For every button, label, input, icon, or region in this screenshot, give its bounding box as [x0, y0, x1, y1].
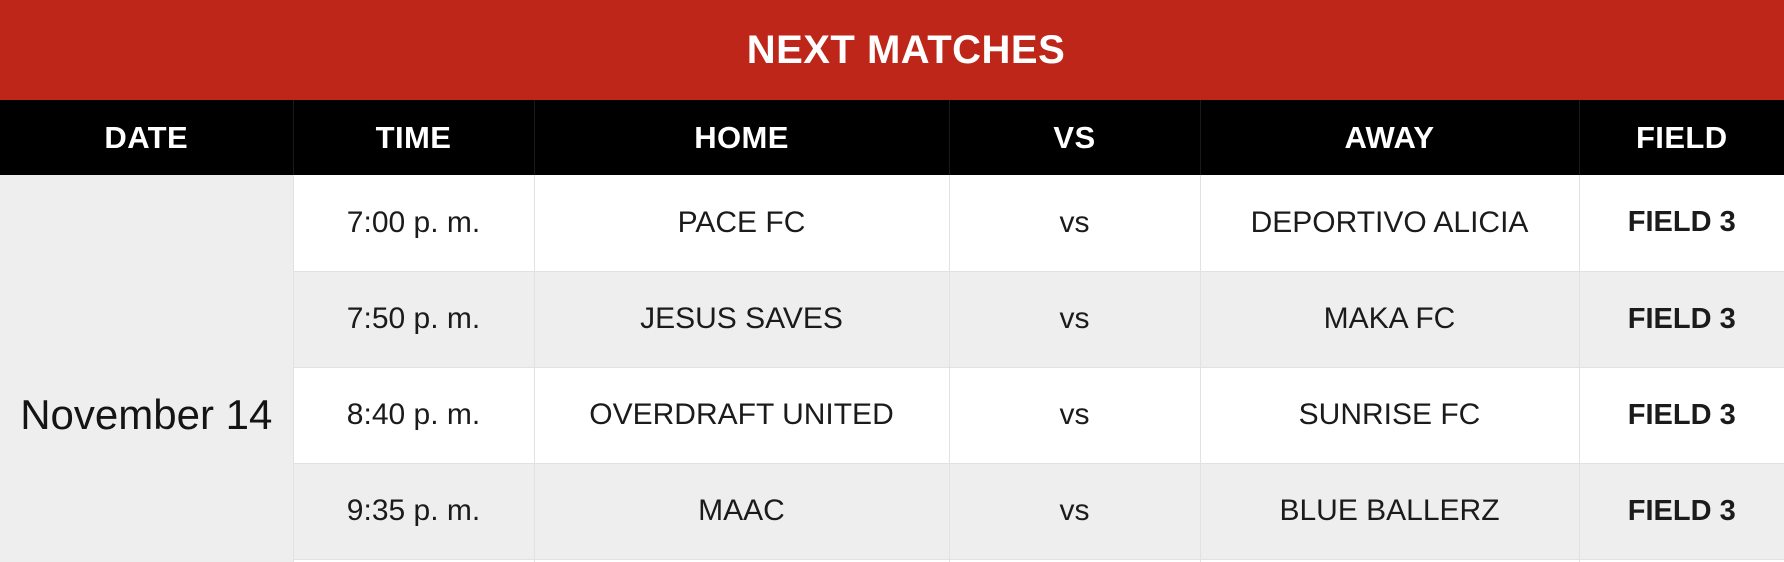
cell-away: BLUE BALLERZ	[1200, 463, 1579, 559]
cell-home: JESUS SAVES	[534, 271, 949, 367]
banner: NEXT MATCHES	[0, 0, 1784, 100]
cell-time: 7:00 p. m.	[293, 175, 534, 271]
date-group-cell: November 14	[0, 175, 293, 562]
column-header-field[interactable]: FIELD	[1579, 100, 1784, 175]
cell-vs: vs	[949, 463, 1200, 559]
table-body: November 14 7:00 p. m. PACE FC vs DEPORT…	[0, 175, 1784, 562]
cell-away: DEPORTIVO ALICIA	[1200, 175, 1579, 271]
table-header: DATE TIME HOME VS AWAY FIELD	[0, 100, 1784, 175]
column-header-vs[interactable]: VS	[949, 100, 1200, 175]
next-matches-board: NEXT MATCHES DATE TIME HOME VS AWAY FIEL…	[0, 0, 1784, 562]
cell-home: MAAC	[534, 463, 949, 559]
cell-field: FIELD 3	[1579, 463, 1784, 559]
cell-time: 7:50 p. m.	[293, 271, 534, 367]
cell-home: PACE FC	[534, 175, 949, 271]
cell-home: OVERDRAFT UNITED	[534, 367, 949, 463]
cell-time: 8:40 p. m.	[293, 367, 534, 463]
page-title: NEXT MATCHES	[747, 30, 1066, 70]
cell-field: FIELD 3	[1579, 271, 1784, 367]
column-header-away[interactable]: AWAY	[1200, 100, 1579, 175]
column-header-home[interactable]: HOME	[534, 100, 949, 175]
cell-vs: vs	[949, 271, 1200, 367]
column-header-time[interactable]: TIME	[293, 100, 534, 175]
matches-table: DATE TIME HOME VS AWAY FIELD November 14…	[0, 100, 1784, 562]
cell-away: MAKA FC	[1200, 271, 1579, 367]
cell-field: FIELD 3	[1579, 175, 1784, 271]
cell-away: SUNRISE FC	[1200, 367, 1579, 463]
column-header-date[interactable]: DATE	[0, 100, 293, 175]
cell-vs: vs	[949, 175, 1200, 271]
table-row[interactable]: November 14 7:00 p. m. PACE FC vs DEPORT…	[0, 175, 1784, 271]
cell-vs: vs	[949, 367, 1200, 463]
cell-time: 9:35 p. m.	[293, 463, 534, 559]
cell-field: FIELD 3	[1579, 367, 1784, 463]
header-row: DATE TIME HOME VS AWAY FIELD	[0, 100, 1784, 175]
